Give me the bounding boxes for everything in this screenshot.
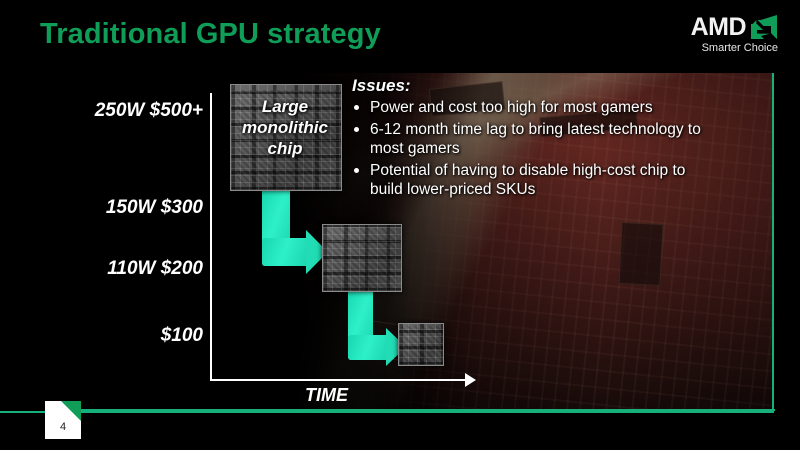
chip-die-small	[398, 323, 444, 366]
list-item-text: Power and cost too high for most gamers	[370, 99, 653, 116]
y-axis-label: 110W $200	[107, 258, 203, 280]
bullet-dot-icon	[354, 127, 359, 132]
issues-bullet-list: Power and cost too high for most gamers …	[352, 98, 702, 199]
amd-logo: AMD Smarter Choice	[658, 12, 778, 58]
list-item: Potential of having to disable high-cost…	[352, 161, 702, 199]
corner-triangle-icon	[61, 401, 81, 421]
list-item: Power and cost too high for most gamers	[352, 98, 702, 117]
y-axis-label: 250W $500+	[95, 100, 203, 122]
chip-label-line-1: Large	[222, 96, 348, 117]
y-axis-label: $100	[161, 325, 203, 347]
issues-heading: Issues:	[352, 76, 702, 96]
slide-canvas: Traditional GPU strategy AMD Smarter Cho…	[0, 0, 800, 450]
y-axis-labels: 250W $500+ 150W $300 110W $200 $100	[0, 0, 203, 450]
list-item: 6-12 month time lag to bring latest tech…	[352, 120, 702, 158]
list-item-text: Potential of having to disable high-cost…	[370, 162, 685, 198]
issues-block: Issues: Power and cost too high for most…	[352, 76, 702, 202]
pcb-component	[618, 222, 663, 286]
chip-die-large-label: Large monolithic chip	[222, 96, 348, 159]
chip-label-line-2: monolithic	[222, 117, 348, 138]
amd-arrow-svg	[750, 15, 778, 40]
chip-label-line-3: chip	[222, 138, 348, 159]
page-number: 4	[45, 421, 81, 433]
bullet-dot-icon	[354, 168, 359, 173]
amd-wordmark: AMD	[691, 14, 746, 40]
amd-tagline: Smarter Choice	[702, 42, 778, 54]
x-axis-line	[210, 379, 468, 381]
bullet-dot-icon	[354, 105, 359, 110]
x-axis-arrowhead-icon	[465, 373, 476, 387]
y-axis-line	[210, 93, 212, 381]
chip-die-medium	[322, 224, 402, 292]
footer-rule	[45, 409, 775, 411]
list-item-text: 6-12 month time lag to bring latest tech…	[370, 121, 701, 157]
amd-arrow-icon	[750, 15, 778, 40]
y-axis-label: 150W $300	[106, 197, 203, 219]
x-axis-label: TIME	[305, 385, 348, 406]
page-number-badge: 4	[45, 401, 81, 439]
